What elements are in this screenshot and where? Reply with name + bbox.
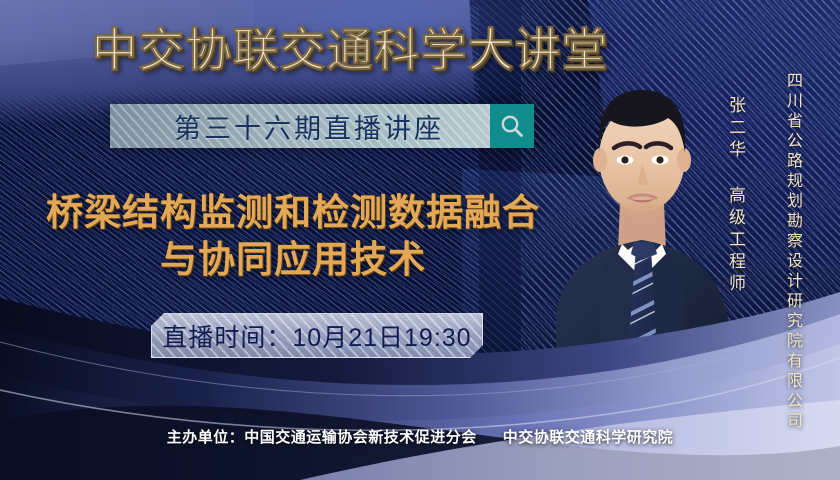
footer-hosts: 主办单位：中国交通运输协会新技术促进分会中交协联交通科学研究院 <box>0 426 840 447</box>
lecture-title-line1: 桥梁结构监测和检测数据融合 <box>46 192 540 233</box>
episode-banner: 第三十六期直播讲座 <box>110 104 534 148</box>
broadcast-time-badge: 直播时间：10月21日19:30 <box>151 313 483 358</box>
speaker-name: 张二华 高级工程师 <box>723 96 748 296</box>
footer-host-1: 中国交通运输协会新技术促进分会 <box>244 429 477 446</box>
page-title: 中交协联交通科学大讲堂 <box>0 14 840 80</box>
search-button[interactable] <box>490 104 534 148</box>
lecture-title-line2: 与协同应用技术 <box>28 237 558 284</box>
episode-label: 第三十六期直播讲座 <box>110 107 490 146</box>
lecture-title: 桥梁结构监测和检测数据融合 与协同应用技术 <box>28 190 558 283</box>
search-icon <box>499 113 525 139</box>
speaker-organization: 四川省公路规划勘察设计研究院有限公司 <box>780 72 804 432</box>
livestream-poster: 中交协联交通科学大讲堂 第三十六期直播讲座 桥梁结构监测和检测数据融合 与协同应… <box>0 0 840 480</box>
footer-host-2: 中交协联交通科学研究院 <box>503 429 674 446</box>
decorative-ribbons <box>0 270 840 480</box>
broadcast-time-text: 直播时间：10月21日19:30 <box>162 318 471 354</box>
footer-prefix: 主办单位： <box>167 429 245 446</box>
